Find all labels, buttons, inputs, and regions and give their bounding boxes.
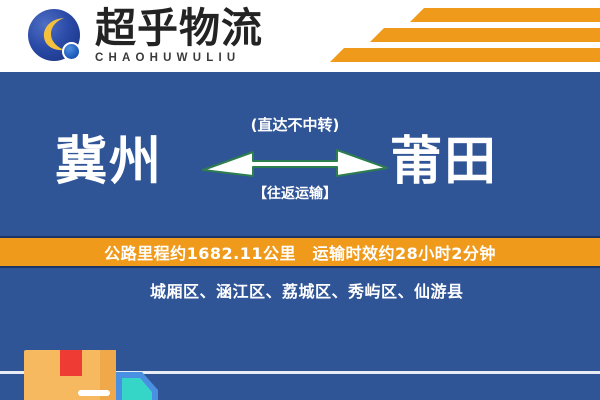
- stripe-3: [330, 48, 600, 62]
- brand-block: 超乎物流 CHAOHUWULIU: [95, 6, 280, 64]
- route-row: 冀州 (直达不中转) 【往返运输】 莆田: [0, 114, 600, 234]
- destination-city: 莆田: [390, 130, 498, 194]
- origin-city: 冀州: [55, 130, 163, 194]
- logo-accent-dot-icon: [62, 42, 81, 61]
- route-center-block: (直达不中转) 【往返运输】: [195, 114, 395, 246]
- stripe-2: [370, 28, 600, 42]
- direct-route-note: (直达不中转): [195, 114, 395, 136]
- round-trip-note: 【往返运输】: [195, 184, 395, 204]
- brand-name-en: CHAOHUWULIU: [95, 52, 280, 64]
- brand-name-cn: 超乎物流: [95, 6, 280, 50]
- double-headed-arrow-icon: [195, 142, 395, 178]
- delivery-truck-icon: [22, 340, 182, 400]
- main-panel: 冀州 (直达不中转) 【往返运输】 莆田 公路里程约1682.11公里 运输时效…: [0, 72, 600, 400]
- chaohu-logo-icon: [28, 9, 86, 67]
- stripe-1: [410, 8, 600, 22]
- logistics-poster: 超乎物流 CHAOHUWULIU 冀州 (直达不中转) 【往返运输】 莆田: [0, 0, 600, 400]
- decorative-stripes: [330, 8, 600, 66]
- distance-time-bar: 公路里程约1682.11公里 运输时效约28小时2分钟: [0, 236, 600, 268]
- distance-time-text: 公路里程约1682.11公里 运输时效约28小时2分钟: [104, 240, 496, 264]
- poster-header: 超乎物流 CHAOHUWULIU: [0, 0, 600, 72]
- districts-list: 城厢区、涵江区、荔城区、秀屿区、仙游县: [150, 278, 590, 302]
